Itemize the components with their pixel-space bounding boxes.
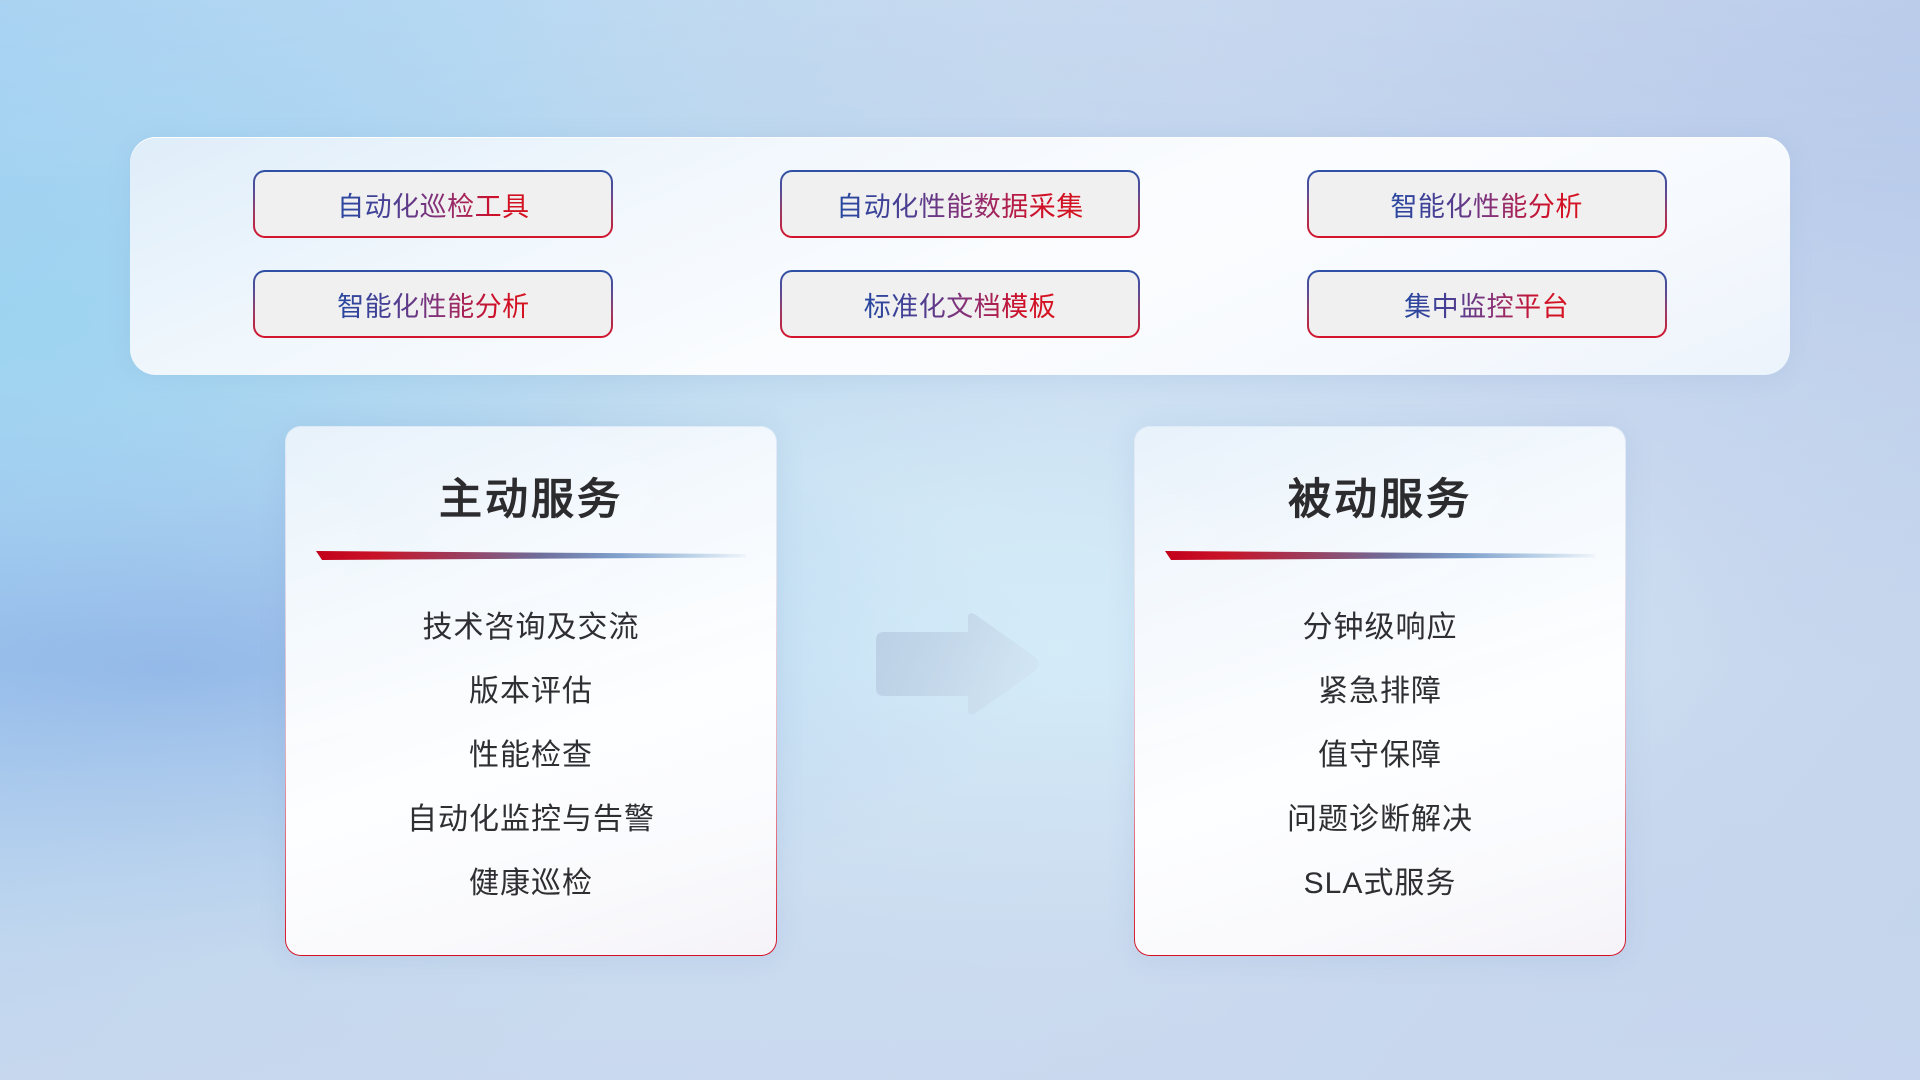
capability-pill-label: 集中监控平台 (1404, 285, 1569, 324)
service-card-proactive: 主动服务 技术咨询及交流 版本评估 性能检查 自动化监控与告警 健康巡检 (285, 426, 777, 956)
capability-pill[interactable]: 标准化文档模板 (780, 270, 1140, 338)
list-item: 健康巡检 (312, 852, 750, 916)
capability-pill-inner: 自动化巡检工具 (255, 172, 611, 236)
capability-pill-label: 自动化性能数据采集 (836, 185, 1084, 224)
list-item: 紧急排障 (1161, 660, 1599, 724)
capability-panel: 自动化巡检工具 自动化性能数据采集 智能化性能分析 智能化性能分析 标准化文档模… (130, 137, 1790, 375)
capability-pill-label: 智能化性能分析 (1390, 185, 1583, 224)
capability-pill-inner: 自动化性能数据采集 (782, 172, 1138, 236)
card-item-list: 分钟级响应 紧急排障 值守保障 问题诊断解决 SLA式服务 (1135, 596, 1625, 916)
list-item: 问题诊断解决 (1161, 788, 1599, 852)
service-card-reactive: 被动服务 分钟级响应 紧急排障 值守保障 问题诊断解决 SLA式服务 (1134, 426, 1626, 956)
capability-pill-label: 标准化文档模板 (864, 285, 1057, 324)
list-item: 性能检查 (312, 724, 750, 788)
arrow-right-icon (872, 610, 1042, 720)
capability-pill[interactable]: 智能化性能分析 (1307, 170, 1667, 238)
capability-pill[interactable]: 自动化性能数据采集 (780, 170, 1140, 238)
capability-pill-inner: 智能化性能分析 (255, 272, 611, 336)
card-title: 主动服务 (286, 465, 776, 527)
card-title: 被动服务 (1135, 465, 1625, 527)
capability-pill-inner: 集中监控平台 (1309, 272, 1665, 336)
list-item: 自动化监控与告警 (312, 788, 750, 852)
card-divider (316, 551, 746, 560)
capability-pill[interactable]: 智能化性能分析 (253, 270, 613, 338)
capability-pill-inner: 智能化性能分析 (1309, 172, 1665, 236)
capability-pill[interactable]: 自动化巡检工具 (253, 170, 613, 238)
list-item: 值守保障 (1161, 724, 1599, 788)
list-item: 技术咨询及交流 (312, 596, 750, 660)
capability-pill-grid: 自动化巡检工具 自动化性能数据采集 智能化性能分析 智能化性能分析 标准化文档模… (130, 137, 1790, 375)
list-item: 版本评估 (312, 660, 750, 724)
capability-pill-label: 智能化性能分析 (337, 285, 530, 324)
list-item: 分钟级响应 (1161, 596, 1599, 660)
capability-pill-label: 自动化巡检工具 (337, 185, 530, 224)
card-item-list: 技术咨询及交流 版本评估 性能检查 自动化监控与告警 健康巡检 (286, 596, 776, 916)
list-item: SLA式服务 (1161, 852, 1599, 916)
capability-pill-inner: 标准化文档模板 (782, 272, 1138, 336)
capability-pill[interactable]: 集中监控平台 (1307, 270, 1667, 338)
card-divider (1165, 551, 1595, 560)
